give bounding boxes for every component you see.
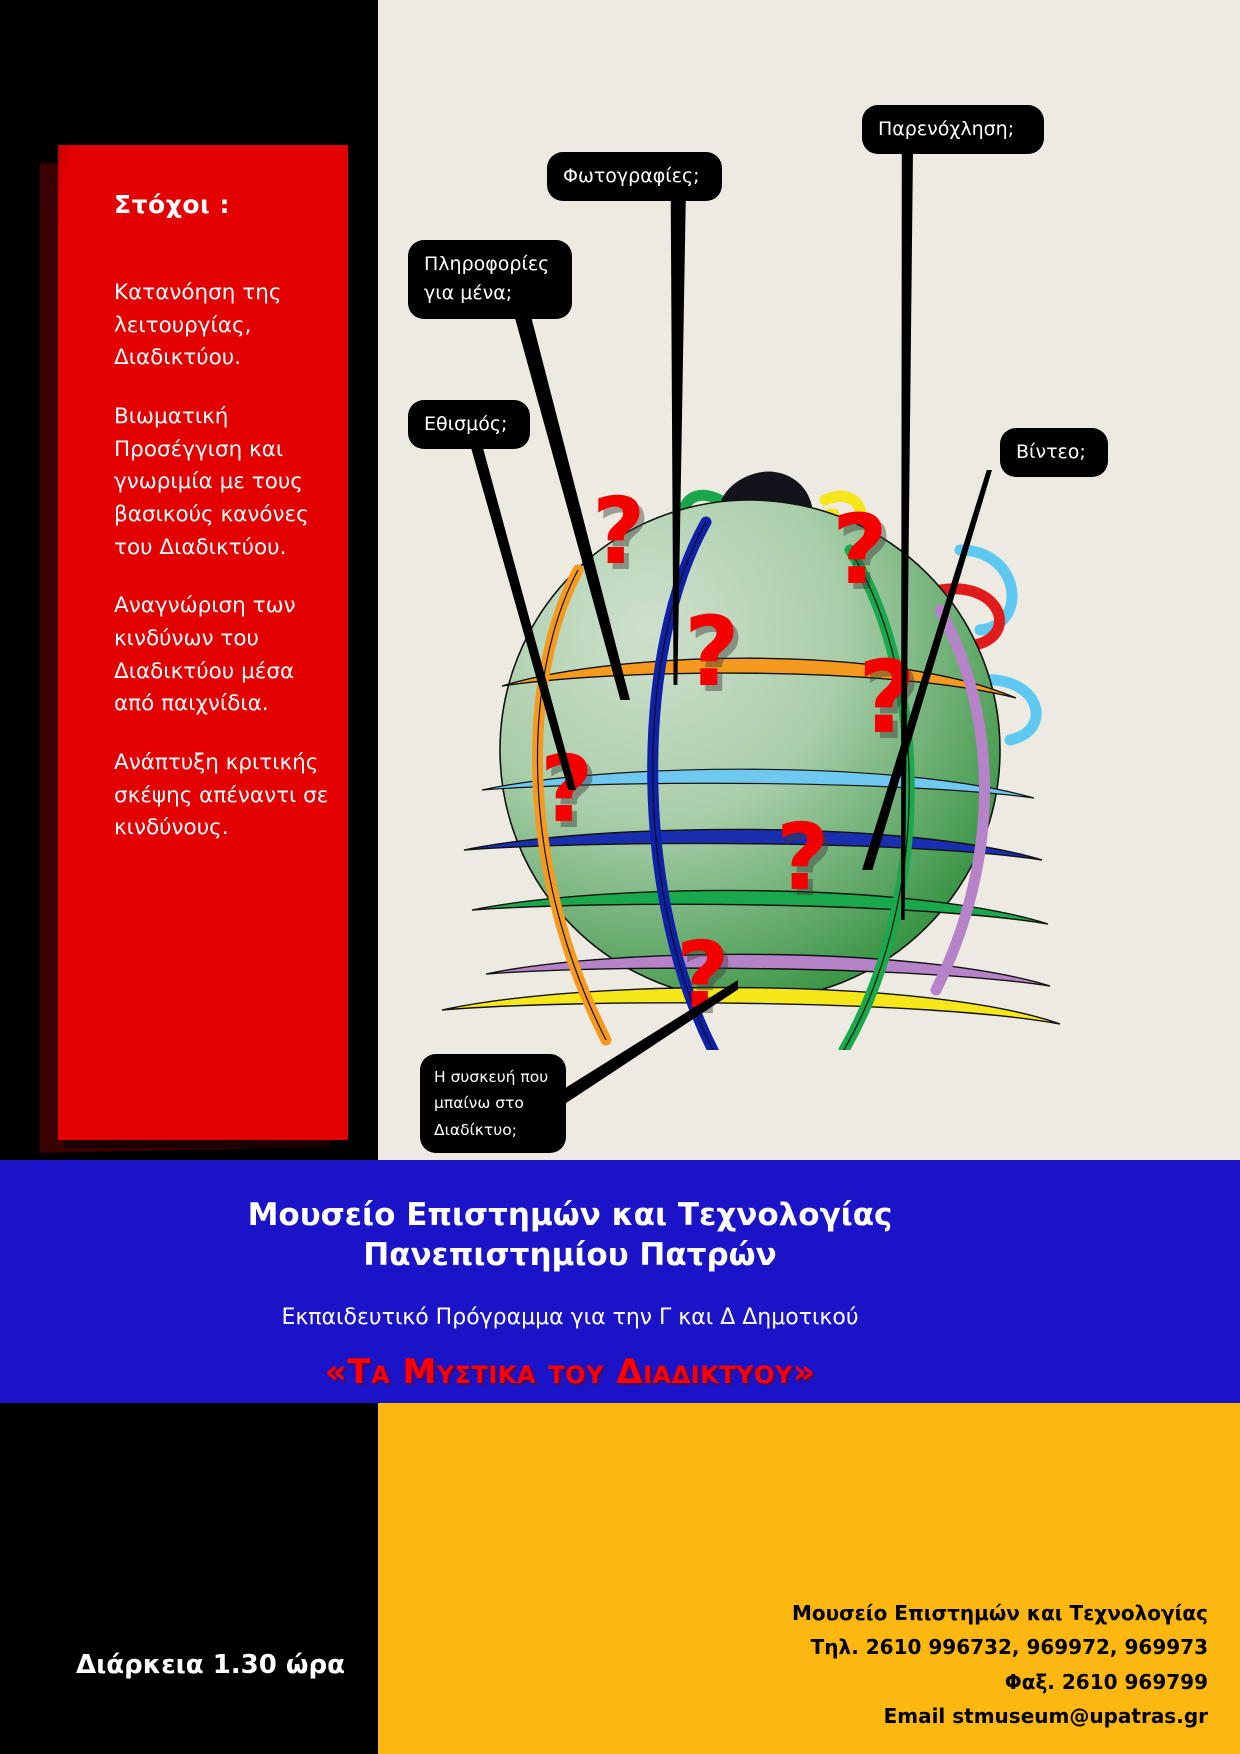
program-subtitle: Εκπαιδευτικό Πρόγραμμα για την Γ και Δ Δ… — [0, 1305, 1140, 1330]
callout-fotografies[interactable]: Φωτογραφίες; — [547, 152, 722, 201]
globe-illustration — [420, 430, 1080, 1050]
question-mark-3: ? — [832, 502, 888, 598]
contact-fax: Φαξ. 2610 969799 — [792, 1665, 1208, 1699]
question-mark-1: ? — [592, 486, 645, 578]
poster-root: Στόχοι : Κατανόηση της λειτουργίας, Διαδ… — [0, 0, 1240, 1754]
objectives-box: Στόχοι : Κατανόηση της λειτουργίας, Διαδ… — [58, 145, 348, 1140]
contact-name: Μουσείο Επιστημών και Τεχνολογίας — [792, 1596, 1208, 1630]
callout-plirofories[interactable]: Πληροφορίες για μένα; — [408, 240, 572, 319]
callout-siskevi[interactable]: Η συσκευή που μπαίνω στο Διαδίκτυο; — [420, 1054, 566, 1153]
contact-block: Μουσείο Επιστημών και Τεχνολογίας Τηλ. 2… — [792, 1596, 1208, 1734]
callout-parenochlisi[interactable]: Παρενόχληση; — [862, 105, 1044, 154]
contact-email[interactable]: Email stmuseum@upatras.gr — [792, 1699, 1208, 1733]
duration-text: Διάρκεια 1.30 ώρα — [76, 1650, 345, 1680]
callout-vinteo[interactable]: Βίντεο; — [1000, 428, 1108, 477]
contact-phone: Τηλ. 2610 996732, 969972, 969973 — [792, 1630, 1208, 1664]
question-mark-2: ? — [684, 604, 740, 700]
organization-name: Μουσείο Επιστημών και Τεχνολογίας Πανεπι… — [0, 1196, 1140, 1275]
objective-item-1: Κατανόηση της λειτουργίας, Διαδικτύου. — [114, 277, 330, 375]
question-mark-6: ? — [776, 812, 829, 904]
callout-ethismos[interactable]: Εθισμός; — [408, 400, 530, 449]
objective-item-2: Βιωματική Προσέγγιση και γνωριμία με του… — [114, 401, 330, 564]
objective-item-4: Ανάπτυξη κριτικής σκέψης απέναντι σε κιν… — [114, 747, 330, 845]
program-title: «Τα Μυστικά του Διαδικτύου» — [0, 1352, 1140, 1392]
objectives-title: Στόχοι : — [114, 190, 330, 219]
objective-item-3: Αναγνώριση των κινδύνων του Διαδικτύου μ… — [114, 590, 330, 721]
